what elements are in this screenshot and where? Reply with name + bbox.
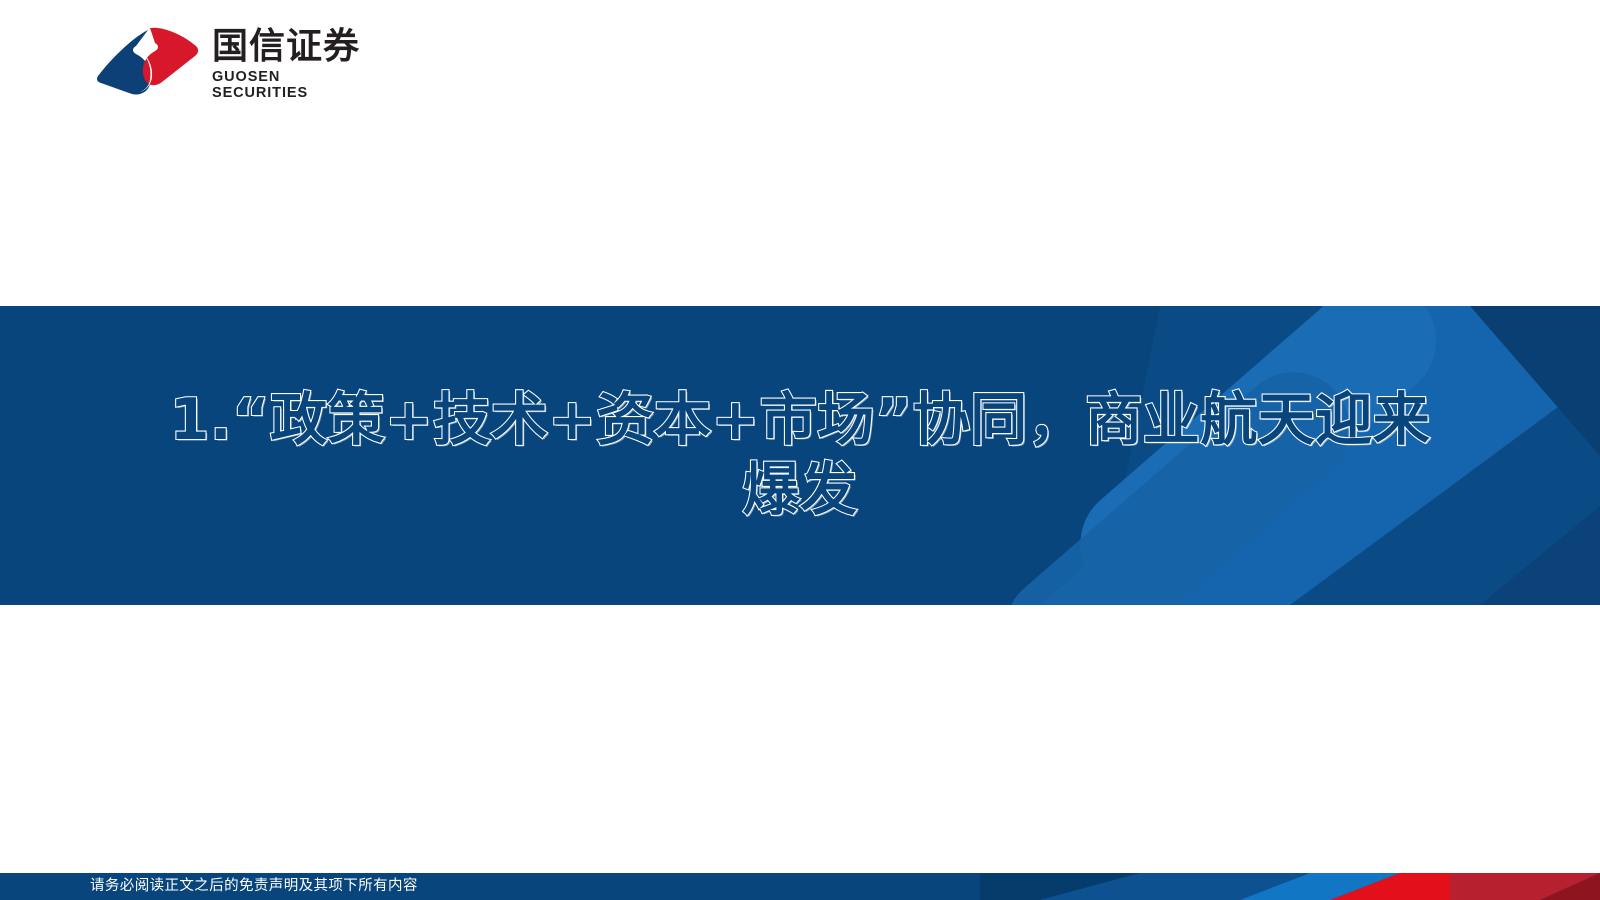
guosen-logo-mark-icon [92,24,204,102]
brand-name-en: GUOSEN SECURITIES [212,69,362,101]
section-title-text-wrap: 1.“政策+技术+资本+市场”协同，商业航天迎来 爆发 [0,306,1600,605]
slide-root: 国信证券 GUOSEN SECURITIES 1.“政策+技术+资本+市场”协同… [0,0,1600,900]
section-title-line-2: 爆发 [743,453,858,528]
section-title-band: 1.“政策+技术+资本+市场”协同，商业航天迎来 爆发 [0,306,1600,605]
section-title-line-1: 1.“政策+技术+资本+市场”协同，商业航天迎来 [170,383,1431,458]
brand-logo-text: 国信证券 GUOSEN SECURITIES [212,24,362,101]
brand-logo: 国信证券 GUOSEN SECURITIES [92,24,362,104]
footer-decoration-shapes [980,873,1600,900]
footer-disclaimer: 请务必阅读正文之后的免责声明及其项下所有内容 [90,873,418,900]
footer-bar: 请务必阅读正文之后的免责声明及其项下所有内容 [0,873,1600,900]
brand-name-cn: 国信证券 [212,28,360,66]
